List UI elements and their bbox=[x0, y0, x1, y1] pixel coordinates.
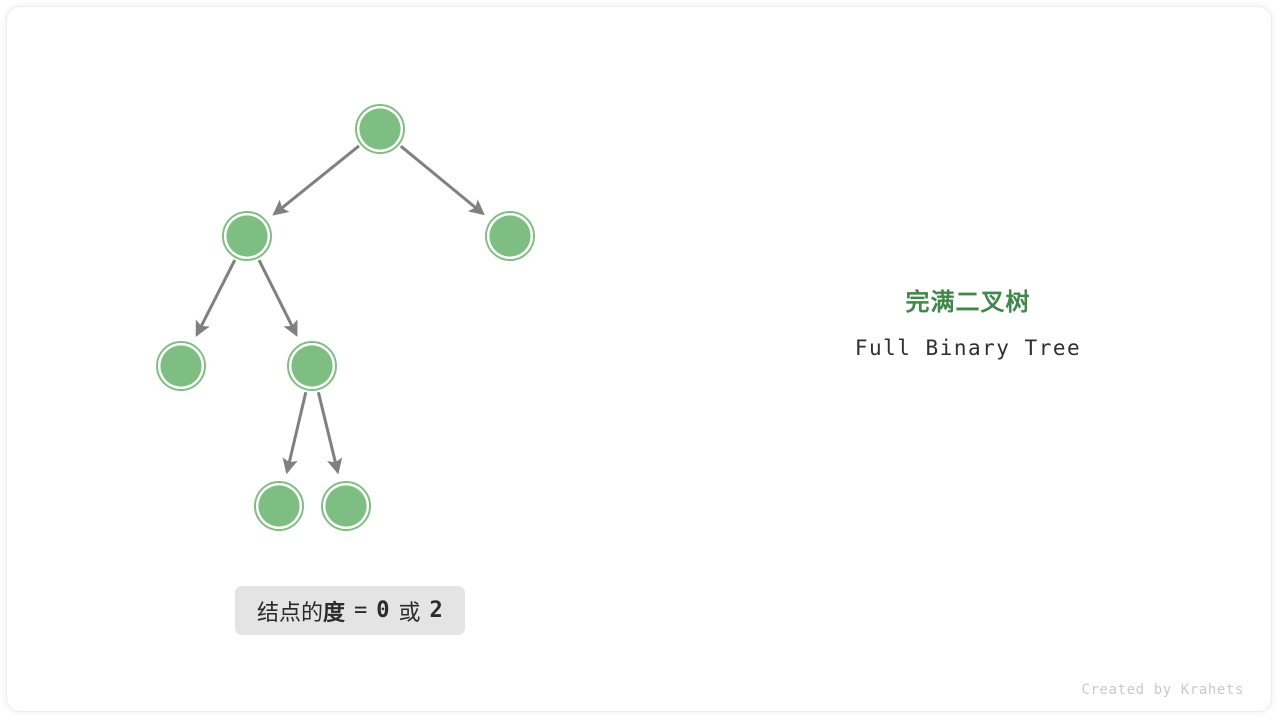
tree-node-fill bbox=[291, 345, 332, 386]
tree-node bbox=[157, 342, 205, 390]
tree-edge bbox=[274, 146, 359, 214]
tree-node bbox=[255, 482, 303, 530]
tree-node-fill bbox=[359, 108, 400, 149]
tree-node bbox=[288, 342, 336, 390]
degree-annotation-badge: 结点的度=0或2 bbox=[235, 586, 465, 635]
tree-node-fill bbox=[160, 345, 201, 386]
tree-edges bbox=[197, 146, 483, 472]
tree-edge bbox=[401, 146, 483, 214]
degree-label-prefix: 结点的 bbox=[257, 595, 323, 627]
tree-node bbox=[356, 105, 404, 153]
page-title: 完满二叉树 bbox=[768, 288, 1168, 318]
degree-label-key: 度 bbox=[323, 595, 345, 627]
tree-node-fill bbox=[325, 485, 366, 526]
tree-node bbox=[322, 482, 370, 530]
tree-node bbox=[223, 212, 271, 260]
tree-edge bbox=[287, 392, 306, 472]
diagram-canvas: 完满二叉树 Full Binary Tree 结点的度=0或2 Created … bbox=[0, 0, 1280, 720]
degree-label-value-b: 2 bbox=[430, 598, 443, 623]
degree-label-value-a: 0 bbox=[376, 598, 389, 623]
degree-label-equals: = bbox=[354, 598, 367, 623]
tree-node-fill bbox=[226, 215, 267, 256]
tree-edge bbox=[318, 392, 337, 472]
tree-nodes bbox=[157, 105, 534, 530]
tree-node bbox=[486, 212, 534, 260]
credit-text: Created by Krahets bbox=[1081, 682, 1244, 698]
page-subtitle: Full Binary Tree bbox=[768, 335, 1168, 361]
tree-edge bbox=[259, 260, 296, 335]
tree-node-fill bbox=[258, 485, 299, 526]
tree-node-fill bbox=[489, 215, 530, 256]
degree-label-conjunction: 或 bbox=[399, 595, 421, 627]
tree-edge bbox=[197, 260, 235, 335]
caption-block: 完满二叉树 Full Binary Tree bbox=[768, 288, 1168, 361]
